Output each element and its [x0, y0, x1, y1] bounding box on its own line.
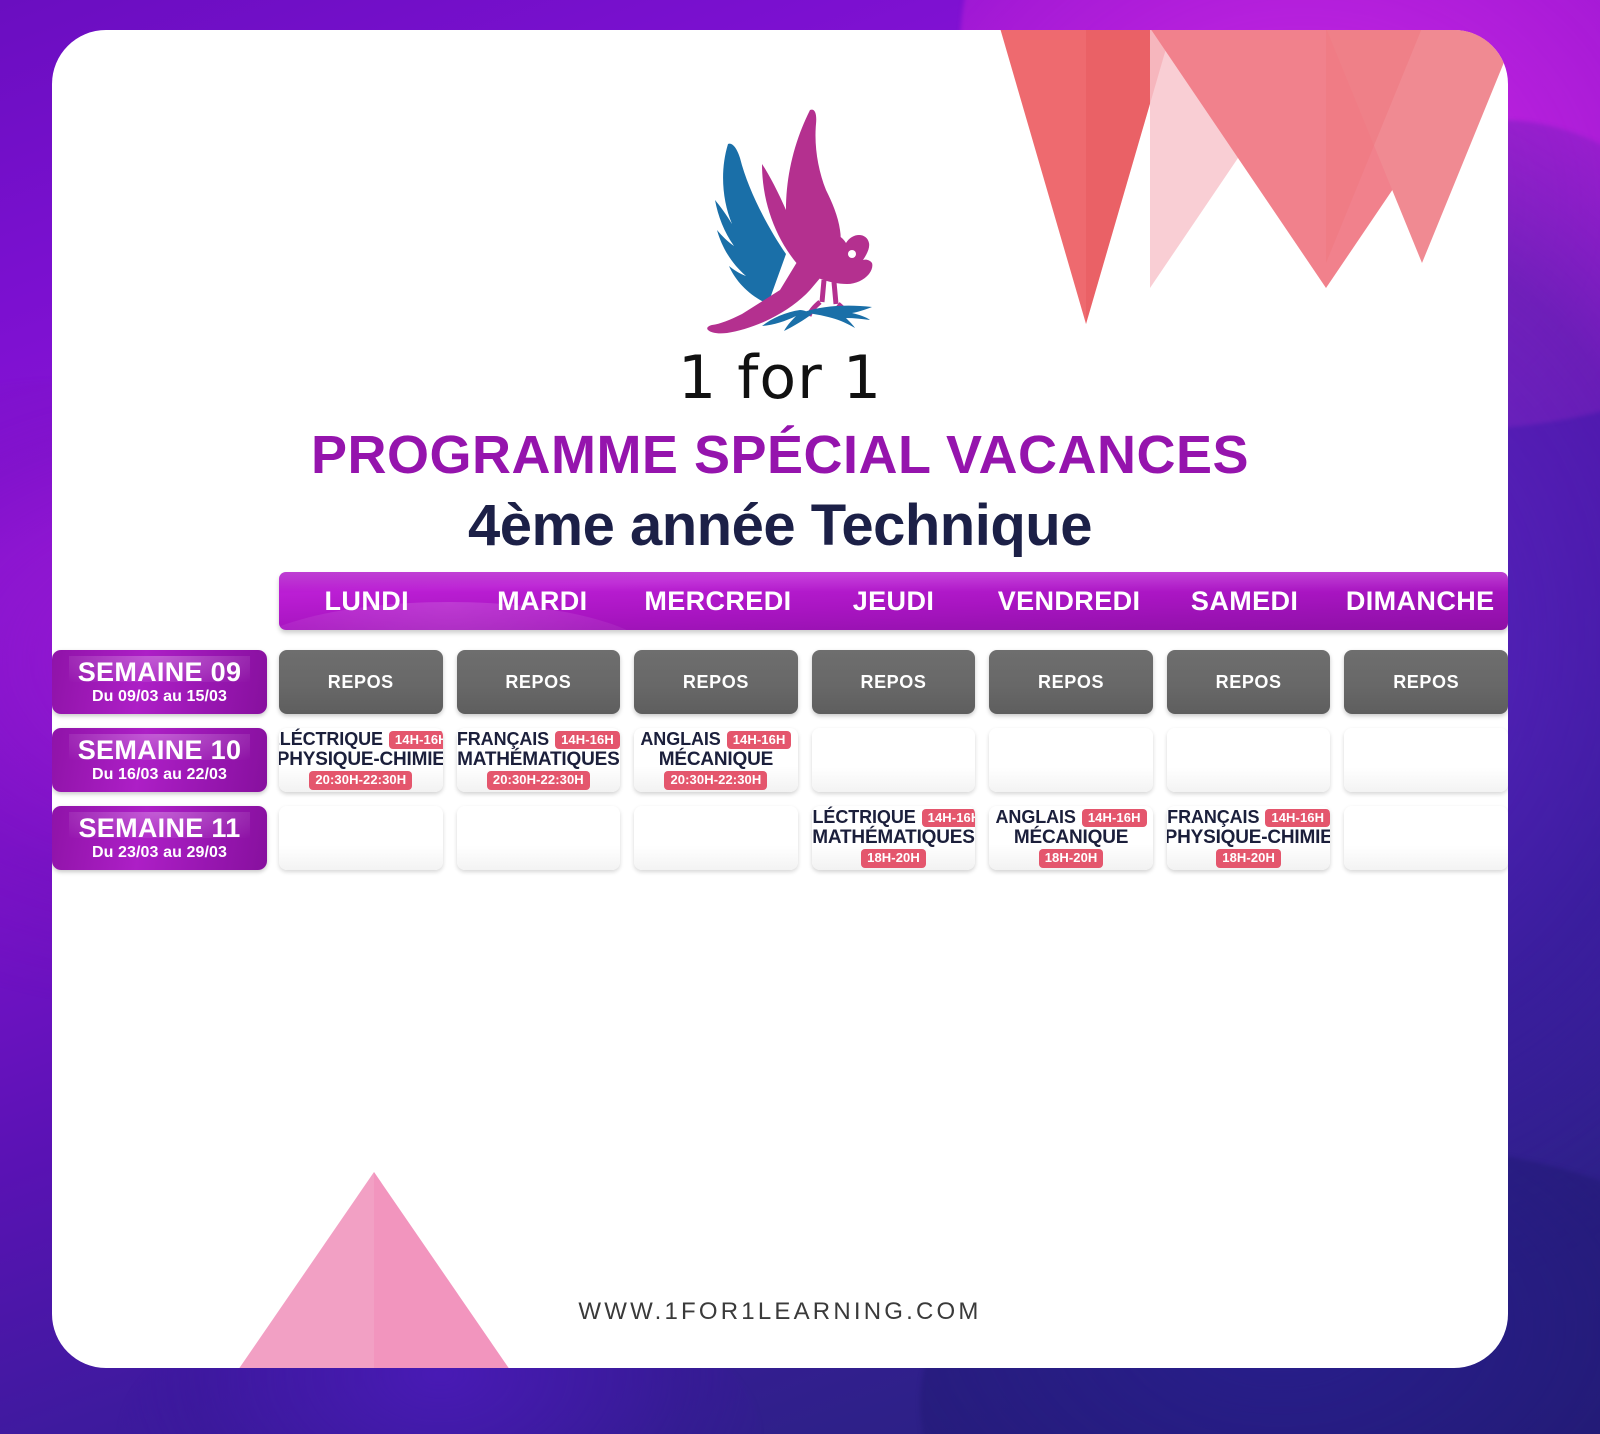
- cell-s10-mardi[interactable]: FRANÇAIS 14H-16H MATHÉMATIQUES 20:30H-22…: [457, 728, 621, 792]
- session-subject-1: ÉLÉCTRIQUE: [279, 729, 383, 750]
- session-subject-2: PHYSIQUE-CHIMIE: [279, 750, 443, 770]
- session-time-1-badge: 14H-16H: [389, 731, 443, 749]
- cell-s09-vendredi[interactable]: REPOS: [989, 650, 1153, 714]
- schedule-grid: LUNDI MARDI MERCREDI JEUDI VENDREDI SAME…: [279, 572, 1508, 870]
- cell-s09-dimanche[interactable]: REPOS: [1344, 650, 1508, 714]
- repos-label: REPOS: [1216, 672, 1282, 693]
- cell-s10-lundi[interactable]: ÉLÉCTRIQUE 14H-16H PHYSIQUE-CHIMIE 20:30…: [279, 728, 443, 792]
- schedule-row-semaine-10: ÉLÉCTRIQUE 14H-16H PHYSIQUE-CHIMIE 20:30…: [279, 728, 1508, 792]
- schedule-table: SEMAINE 09 Du 09/03 au 15/03 SEMAINE 10 …: [52, 572, 1508, 902]
- bird-logo-icon: [682, 104, 878, 341]
- day-header-lundi: LUNDI: [279, 572, 455, 630]
- session-subject-1: ÉLÉCTRIQUE: [812, 807, 916, 828]
- day-header-vendredi: VENDREDI: [981, 572, 1157, 630]
- session-primary-line: FRANÇAIS 14H-16H: [461, 729, 617, 750]
- cell-s10-jeudi[interactable]: [812, 728, 976, 792]
- session-time-1-badge: 14H-16H: [922, 809, 976, 827]
- session-time-2-badge: 20:30H-22:30H: [309, 771, 412, 789]
- page-subtitle: 4ème année Technique: [52, 492, 1508, 559]
- week-name: SEMAINE 10: [78, 736, 242, 764]
- repos-label: REPOS: [505, 672, 571, 693]
- week-chip-semaine-09[interactable]: SEMAINE 09 Du 09/03 au 15/03: [52, 650, 267, 714]
- cell-s10-vendredi[interactable]: [989, 728, 1153, 792]
- session-time-1-badge: 14H-16H: [1265, 809, 1330, 827]
- cell-s11-mardi[interactable]: [457, 806, 621, 870]
- cell-s11-samedi[interactable]: FRANÇAIS 14H-16H PHYSIQUE-CHIMIE 18H-20H: [1167, 806, 1331, 870]
- session-subject-1: ANGLAIS: [996, 807, 1076, 828]
- days-header-row: LUNDI MARDI MERCREDI JEUDI VENDREDI SAME…: [279, 572, 1508, 630]
- schedule-row-semaine-09: REPOS REPOS REPOS REPOS REPOS: [279, 650, 1508, 714]
- session-subject-2: MATHÉMATIQUES: [457, 750, 619, 770]
- week-chip-semaine-11[interactable]: SEMAINE 11 Du 23/03 au 29/03: [52, 806, 267, 870]
- week-name: SEMAINE 09: [78, 658, 242, 686]
- brand-wordmark: 1 for 1: [52, 343, 1508, 413]
- session-time-2-badge: 18H-20H: [861, 849, 926, 867]
- session-time-1-badge: 14H-16H: [1082, 809, 1147, 827]
- session-primary-line: ÉLÉCTRIQUE 14H-16H: [283, 729, 439, 750]
- cell-s10-mercredi[interactable]: ANGLAIS 14H-16H MÉCANIQUE 20:30H-22:30H: [634, 728, 798, 792]
- footer-website-url[interactable]: WWW.1FOR1LEARNING.COM: [52, 1298, 1508, 1326]
- repos-label: REPOS: [1393, 672, 1459, 693]
- session-subject-2: MÉCANIQUE: [1014, 828, 1128, 848]
- session-subject-1: FRANÇAIS: [457, 729, 549, 750]
- session-time-2-badge: 20:30H-22:30H: [664, 771, 767, 789]
- week-range: Du 16/03 au 22/03: [92, 766, 227, 784]
- cell-s09-mercredi[interactable]: REPOS: [634, 650, 798, 714]
- repos-label: REPOS: [683, 672, 749, 693]
- session-subject-2: MÉCANIQUE: [659, 750, 773, 770]
- session-subject-1: FRANÇAIS: [1167, 807, 1259, 828]
- repos-label: REPOS: [860, 672, 926, 693]
- session-time-2-badge: 18H-20H: [1039, 849, 1104, 867]
- cell-s11-dimanche[interactable]: [1344, 806, 1508, 870]
- cell-s10-samedi[interactable]: [1167, 728, 1331, 792]
- page-title: PROGRAMME SPÉCIAL VACANCES: [52, 424, 1508, 486]
- session-primary-line: FRANÇAIS 14H-16H: [1171, 807, 1327, 828]
- day-header-jeudi: JEUDI: [806, 572, 982, 630]
- week-range: Du 09/03 au 15/03: [92, 688, 227, 706]
- cell-s11-lundi[interactable]: [279, 806, 443, 870]
- week-labels-column: SEMAINE 09 Du 09/03 au 15/03 SEMAINE 10 …: [52, 650, 267, 884]
- week-name: SEMAINE 11: [78, 814, 240, 842]
- cell-s10-dimanche[interactable]: [1344, 728, 1508, 792]
- schedule-row-semaine-11: ÉLÉCTRIQUE 14H-16H MATHÉMATIQUES 18H-20H…: [279, 806, 1508, 870]
- cell-s09-jeudi[interactable]: REPOS: [812, 650, 976, 714]
- day-header-mardi: MARDI: [455, 572, 631, 630]
- session-time-1-badge: 14H-16H: [727, 731, 792, 749]
- cell-s11-mercredi[interactable]: [634, 806, 798, 870]
- session-primary-line: ÉLÉCTRIQUE 14H-16H: [816, 807, 972, 828]
- cell-s09-samedi[interactable]: REPOS: [1167, 650, 1331, 714]
- session-subject-2: MATHÉMATIQUES: [812, 828, 974, 848]
- week-chip-semaine-10[interactable]: SEMAINE 10 Du 16/03 au 22/03: [52, 728, 267, 792]
- day-header-dimanche: DIMANCHE: [1332, 572, 1508, 630]
- session-time-2-badge: 18H-20H: [1216, 849, 1281, 867]
- repos-label: REPOS: [1038, 672, 1104, 693]
- session-primary-line: ANGLAIS 14H-16H: [993, 807, 1149, 828]
- decor-triangle-bottom-left-shade: [374, 1172, 510, 1368]
- session-subject-1: ANGLAIS: [640, 729, 720, 750]
- session-primary-line: ANGLAIS 14H-16H: [638, 729, 794, 750]
- day-header-mercredi: MERCREDI: [630, 572, 806, 630]
- cell-s09-lundi[interactable]: REPOS: [279, 650, 443, 714]
- cell-s09-mardi[interactable]: REPOS: [457, 650, 621, 714]
- repos-label: REPOS: [328, 672, 394, 693]
- brand-logo: 1 for 1: [52, 104, 1508, 413]
- session-time-2-badge: 20:30H-22:30H: [487, 771, 590, 789]
- session-subject-2: PHYSIQUE-CHIMIE: [1167, 828, 1331, 848]
- week-range: Du 23/03 au 29/03: [92, 844, 227, 862]
- session-time-1-badge: 14H-16H: [555, 731, 620, 749]
- poster-card: 1 for 1 PROGRAMME SPÉCIAL VACANCES 4ème …: [52, 30, 1508, 1368]
- day-header-samedi: SAMEDI: [1157, 572, 1333, 630]
- cell-s11-vendredi[interactable]: ANGLAIS 14H-16H MÉCANIQUE 18H-20H: [989, 806, 1153, 870]
- cell-s11-jeudi[interactable]: ÉLÉCTRIQUE 14H-16H MATHÉMATIQUES 18H-20H: [812, 806, 976, 870]
